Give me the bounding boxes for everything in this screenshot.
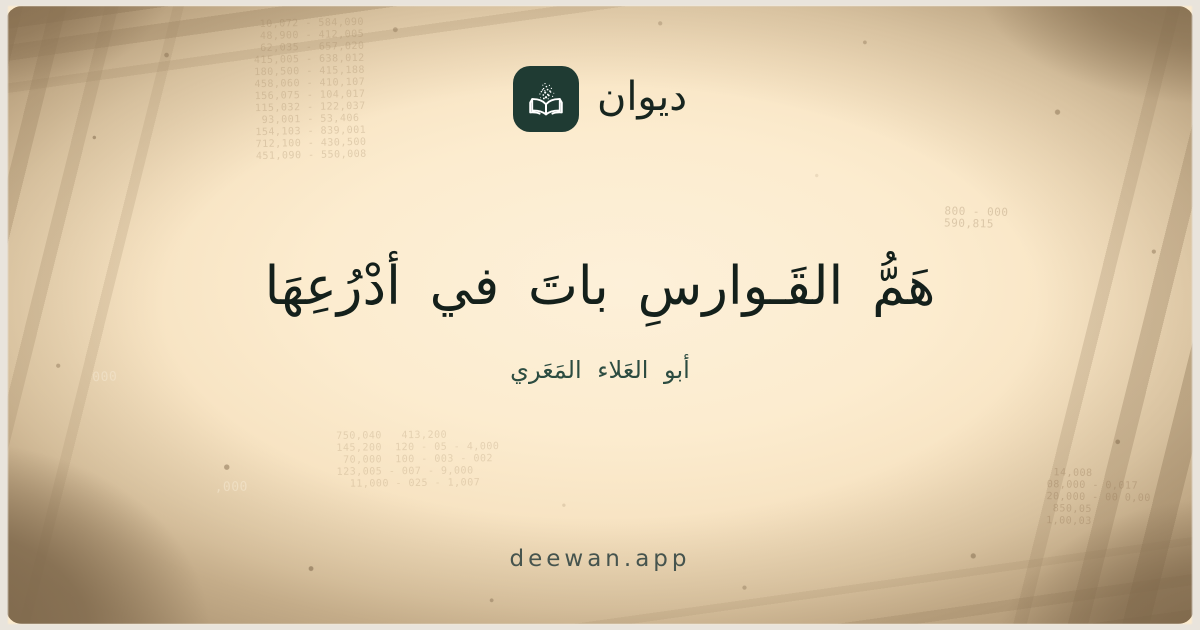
poster-content: ديوان هَمُّ القَـوارسِ باتَ في أدْرُعِهَ… — [0, 0, 1200, 630]
poem-author-name: أبو العَلاء المَعَري — [510, 356, 690, 384]
quote-poster-canvas: 10,072 - 584,090 48,900 - 412,005 62,035… — [0, 0, 1200, 630]
open-book-sparkles-icon — [524, 77, 568, 121]
poem-verse-text: هَمُّ القَـوارسِ باتَ في أدْرُعِهَا — [175, 254, 1026, 320]
deewan-logo-tile — [513, 66, 579, 132]
brand-lockup[interactable]: ديوان — [513, 66, 687, 132]
brand-name-label: ديوان — [597, 77, 687, 121]
